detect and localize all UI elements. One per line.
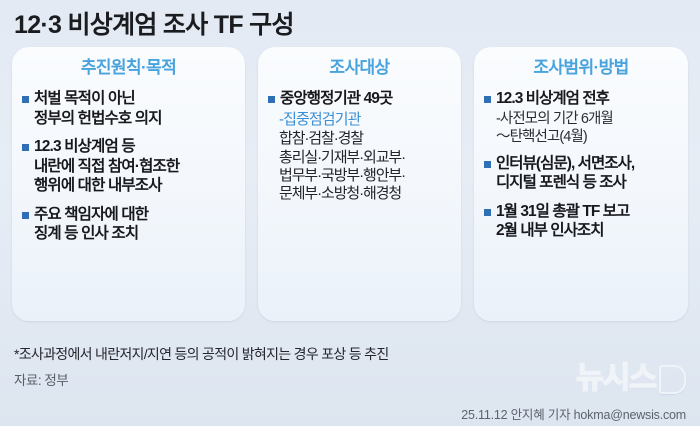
list-item-text: 12.3 비상계엄 전후 xyxy=(496,89,609,109)
newsis-watermark: 뉴시스 xyxy=(576,364,686,394)
list-item: 1월 31일 총괄 TF 보고 2월 내부 인사조치 xyxy=(484,202,678,241)
item-list-principles: 처벌 목적이 아닌 정부의 헌법수호 의지 12.3 비상계엄 등 내란에 직접… xyxy=(22,89,235,244)
bullet-square-icon xyxy=(22,144,29,151)
card-targets: 조사대상 중앙행정기관 49곳 -집중점검기관 합참·검찰·경찰 총리실·기재부… xyxy=(258,47,461,321)
focus-agency-line: 총리실·기재부·외교부· xyxy=(279,149,451,167)
bullet-square-icon xyxy=(484,209,491,216)
card-header-principles: 추진원칙·목적 xyxy=(22,59,235,76)
bullet-square-icon xyxy=(484,161,491,168)
focus-agency-line: 문체부·소방청·해경청 xyxy=(279,185,451,203)
list-item-text: 중앙행정기관 49곳 xyxy=(280,89,392,109)
list-item: 12.3 비상계엄 등 내란에 직접 참여·협조한 행위에 대한 내부조사 xyxy=(22,137,235,196)
list-item: 12.3 비상계엄 전후 xyxy=(484,89,678,109)
card-scope: 조사범위·방법 12.3 비상계엄 전후 -사전모의 기간 6개월 〜탄핵선고(… xyxy=(474,47,688,321)
list-item: 인터뷰(심문), 서면조사, 디지털 포렌식 등 조사 xyxy=(484,154,678,193)
bullet-square-icon xyxy=(268,96,275,103)
watermark-text: 뉴시스 xyxy=(576,364,656,394)
bullet-square-icon xyxy=(22,212,29,219)
newsis-logo-icon xyxy=(659,365,686,394)
item-list-scope: 12.3 비상계엄 전후 xyxy=(484,89,678,109)
focus-agency-line: 합참·검찰·경찰 xyxy=(279,130,451,148)
focus-agency-block: -집중점검기관 합참·검찰·경찰 총리실·기재부·외교부· 법무부·국방부·행안… xyxy=(279,111,451,204)
cards-row: 추진원칙·목적 처벌 목적이 아닌 정부의 헌법수호 의지 12.3 비상계엄 … xyxy=(12,47,688,321)
list-item-text: 1월 31일 총괄 TF 보고 2월 내부 인사조치 xyxy=(496,202,629,241)
list-item: 주요 책임자에 대한 징계 등 인사 조치 xyxy=(22,205,235,244)
infographic-root: 12·3 비상계엄 조사 TF 구성 추진원칙·목적 처벌 목적이 아닌 정부의… xyxy=(0,0,700,426)
list-item: 처벌 목적이 아닌 정부의 헌법수호 의지 xyxy=(22,89,235,128)
scope-period-line: 〜탄핵선고(4월) xyxy=(496,128,678,146)
focus-agency-title: -집중점검기관 xyxy=(279,111,451,130)
footnote: *조사과정에서 내란저지/지연 등의 공적이 밝혀지는 경우 포상 등 추진 xyxy=(14,344,389,364)
card-header-targets: 조사대상 xyxy=(268,59,451,76)
scope-period-line: -사전모의 기간 6개월 xyxy=(496,110,678,128)
item-list-targets: 중앙행정기관 49곳 xyxy=(268,89,451,109)
page-title: 12·3 비상계엄 조사 TF 구성 xyxy=(14,13,294,38)
title-bar: 12·3 비상계엄 조사 TF 구성 xyxy=(14,8,686,42)
card-principles: 추진원칙·목적 처벌 목적이 아닌 정부의 헌법수호 의지 12.3 비상계엄 … xyxy=(12,47,245,321)
item-list-scope-methods: 인터뷰(심문), 서면조사, 디지털 포렌식 등 조사 1월 31일 총괄 TF… xyxy=(484,154,678,241)
list-item-text: 주요 책임자에 대한 징계 등 인사 조치 xyxy=(34,205,148,244)
credit-line: 25.11.12 안지혜 기자 hokma@newsis.com xyxy=(461,404,686,423)
list-item-text: 처벌 목적이 아닌 정부의 헌법수호 의지 xyxy=(34,89,162,128)
scope-period-note: -사전모의 기간 6개월 〜탄핵선고(4월) xyxy=(496,110,678,146)
card-header-scope: 조사범위·방법 xyxy=(484,59,678,76)
list-item-text: 인터뷰(심문), 서면조사, 디지털 포렌식 등 조사 xyxy=(496,154,634,193)
list-item: 중앙행정기관 49곳 xyxy=(268,89,451,109)
focus-agency-line: 법무부·국방부·행안부· xyxy=(279,167,451,185)
source-label: 자료: 정부 xyxy=(14,369,68,389)
bullet-square-icon xyxy=(22,96,29,103)
bullet-square-icon xyxy=(484,96,491,103)
list-item-text: 12.3 비상계엄 등 내란에 직접 참여·협조한 행위에 대한 내부조사 xyxy=(34,137,179,196)
